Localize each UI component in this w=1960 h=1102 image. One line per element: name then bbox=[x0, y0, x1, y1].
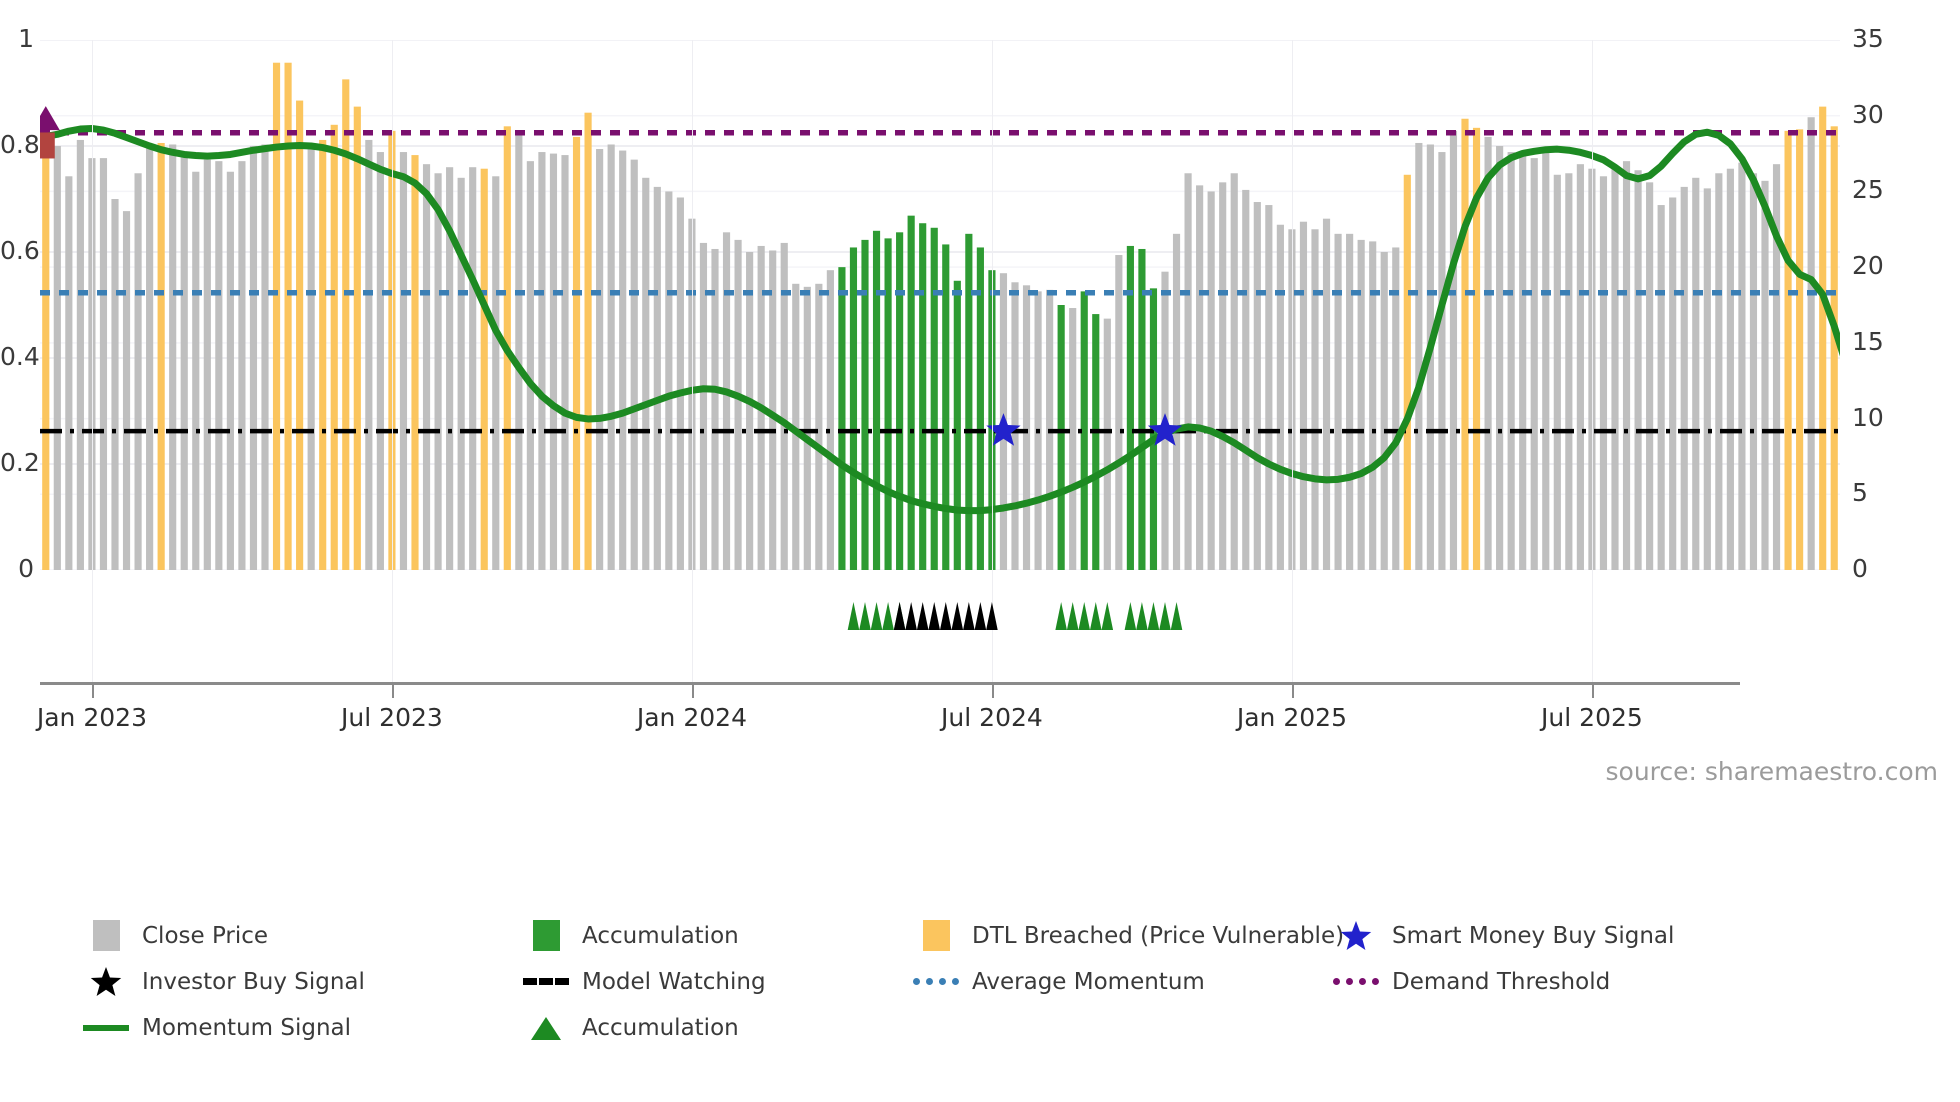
price-bar bbox=[261, 144, 268, 570]
price-bar bbox=[1208, 191, 1215, 570]
price-bar bbox=[1531, 158, 1538, 570]
price-bar bbox=[746, 252, 753, 570]
vertical-gridline bbox=[992, 40, 993, 682]
y-axis-right-tick: 30 bbox=[1852, 100, 1912, 129]
y-axis-right-tick: 35 bbox=[1852, 24, 1912, 53]
price-bar bbox=[1231, 173, 1238, 570]
price-bar bbox=[215, 161, 222, 570]
x-axis-line bbox=[40, 682, 1740, 685]
price-bar bbox=[158, 143, 165, 570]
price-bar bbox=[1727, 169, 1734, 570]
price-bar bbox=[1219, 182, 1226, 570]
price-bar bbox=[1058, 305, 1065, 570]
price-bar bbox=[1300, 222, 1307, 570]
accumulation-triangle-icon bbox=[882, 602, 894, 630]
legend-label: Investor Buy Signal bbox=[134, 969, 365, 995]
price-bar bbox=[654, 187, 661, 570]
price-bar bbox=[677, 197, 684, 570]
plot-area bbox=[40, 40, 1840, 570]
price-bar bbox=[250, 146, 257, 570]
price-bar bbox=[1115, 255, 1122, 570]
price-bar bbox=[1323, 219, 1330, 570]
legend-row: Investor Buy SignalModel WatchingAverage… bbox=[78, 966, 1918, 997]
legend-item[interactable]: DTL Breached (Price Vulnerable) bbox=[908, 920, 1344, 951]
legend-item[interactable]: Model Watching bbox=[518, 966, 766, 997]
y-axis-left-tick: 0 bbox=[0, 554, 34, 583]
price-bar bbox=[169, 144, 176, 570]
price-bar bbox=[492, 176, 499, 570]
price-bar bbox=[1104, 319, 1111, 570]
accumulation-triangle-icon bbox=[871, 602, 883, 630]
vertical-gridline bbox=[1592, 40, 1593, 682]
accumulation-marker-band bbox=[40, 596, 1840, 636]
vertical-gridline bbox=[392, 40, 393, 682]
dotted-line-icon bbox=[1328, 966, 1384, 997]
price-bar bbox=[1611, 167, 1618, 570]
swatch bbox=[83, 1025, 129, 1031]
price-bar bbox=[931, 228, 938, 570]
price-bar bbox=[285, 63, 292, 570]
swatch bbox=[93, 920, 120, 951]
dotted-line-icon bbox=[908, 966, 964, 997]
price-bar bbox=[1023, 285, 1030, 570]
price-bar bbox=[469, 167, 476, 570]
price-bar bbox=[146, 144, 153, 570]
chart-canvas bbox=[40, 40, 1840, 570]
price-bar bbox=[711, 249, 718, 570]
price-bar bbox=[1646, 182, 1653, 570]
price-bar bbox=[965, 234, 972, 570]
price-bar bbox=[1554, 175, 1561, 570]
legend-item[interactable]: Investor Buy Signal bbox=[78, 966, 365, 997]
price-bar bbox=[619, 151, 626, 570]
price-bar bbox=[1173, 234, 1180, 570]
price-bar bbox=[365, 140, 372, 570]
x-axis-label: Jan 2023 bbox=[37, 703, 147, 732]
price-bar bbox=[1185, 173, 1192, 570]
investor-buy-triangle-icon bbox=[963, 602, 975, 630]
price-bar bbox=[1565, 173, 1572, 570]
price-bar bbox=[1092, 314, 1099, 570]
price-bar bbox=[642, 178, 649, 570]
price-bar bbox=[423, 164, 430, 570]
price-bar bbox=[561, 155, 568, 570]
price-bar bbox=[1715, 173, 1722, 570]
x-axis-tick bbox=[1292, 684, 1294, 698]
price-bar bbox=[481, 169, 488, 570]
price-bar bbox=[354, 107, 361, 570]
price-bar bbox=[1519, 152, 1526, 570]
price-bar bbox=[1635, 170, 1642, 570]
price-bar bbox=[100, 158, 107, 570]
price-bar bbox=[861, 240, 868, 570]
x-axis-label: Jan 2025 bbox=[1237, 703, 1347, 732]
price-bar bbox=[1381, 252, 1388, 570]
legend-label: Accumulation bbox=[574, 923, 739, 949]
chart-page: 00.20.40.60.81 05101520253035 Jan 2023Ju… bbox=[0, 0, 1960, 1102]
square-swatch-icon bbox=[908, 920, 964, 951]
price-bar bbox=[273, 63, 280, 570]
price-bar bbox=[296, 101, 303, 570]
legend-label: Smart Money Buy Signal bbox=[1384, 923, 1674, 949]
y-axis-left-tick: 0.2 bbox=[0, 448, 34, 477]
price-bar bbox=[331, 125, 338, 570]
price-bar bbox=[515, 135, 522, 570]
accumulation-triangle-icon bbox=[859, 602, 871, 630]
price-bar bbox=[1311, 229, 1318, 570]
price-bar bbox=[1438, 152, 1445, 570]
x-axis-tick bbox=[92, 684, 94, 698]
accumulation-triangle-icon bbox=[1090, 602, 1102, 630]
price-bar bbox=[804, 287, 811, 570]
swatch bbox=[1333, 978, 1379, 985]
price-bar bbox=[400, 152, 407, 570]
price-bar bbox=[1138, 249, 1145, 570]
price-bar bbox=[919, 223, 926, 570]
price-bar bbox=[827, 270, 834, 570]
price-bar bbox=[1265, 205, 1272, 570]
legend-label: Model Watching bbox=[574, 969, 766, 995]
price-bar bbox=[838, 267, 845, 570]
price-bar bbox=[1450, 131, 1457, 570]
swatch bbox=[523, 978, 569, 985]
square-swatch-icon bbox=[518, 920, 574, 951]
swatch bbox=[89, 965, 123, 999]
price-bar bbox=[1069, 308, 1076, 570]
x-axis-tick bbox=[392, 684, 394, 698]
price-bar bbox=[815, 284, 822, 570]
legend-item[interactable]: Momentum Signal bbox=[78, 1012, 351, 1043]
vertical-gridline bbox=[692, 40, 693, 682]
price-bar bbox=[723, 232, 730, 570]
investor-buy-triangle-icon bbox=[928, 602, 940, 630]
accumulation-triangle-icon bbox=[1078, 602, 1090, 630]
price-bar bbox=[873, 231, 880, 570]
price-bar bbox=[1277, 225, 1284, 570]
price-bar bbox=[585, 113, 592, 570]
chart-legend: Close PriceAccumulationDTL Breached (Pri… bbox=[78, 920, 1918, 1058]
price-bar bbox=[596, 149, 603, 570]
accumulation-triangle-icon bbox=[1125, 602, 1137, 630]
y-axis-right-tick: 25 bbox=[1852, 175, 1912, 204]
price-bar bbox=[1692, 178, 1699, 570]
investor-buy-triangle-icon bbox=[952, 602, 964, 630]
price-bar bbox=[435, 173, 442, 570]
investor-buy-triangle-icon bbox=[975, 602, 987, 630]
y-axis-right-tick: 20 bbox=[1852, 251, 1912, 280]
price-bar bbox=[238, 161, 245, 570]
y-axis-right-tick: 15 bbox=[1852, 327, 1912, 356]
vertical-gridline bbox=[1292, 40, 1293, 682]
accumulation-triangle-icon bbox=[1102, 602, 1114, 630]
price-bar bbox=[850, 247, 857, 570]
legend-item[interactable]: Accumulation bbox=[518, 1012, 739, 1043]
legend-label: Close Price bbox=[134, 923, 268, 949]
price-bar bbox=[227, 172, 234, 570]
accumulation-triangle-icon bbox=[848, 602, 860, 630]
price-bar bbox=[204, 160, 211, 570]
star-marker-icon bbox=[78, 966, 134, 997]
y-axis-left-tick: 0.4 bbox=[0, 342, 34, 371]
x-axis-tick bbox=[1592, 684, 1594, 698]
swatch bbox=[913, 978, 959, 985]
price-bar bbox=[608, 144, 615, 570]
investor-buy-triangle-icon bbox=[894, 602, 906, 630]
y-axis-left-tick: 1 bbox=[0, 24, 34, 53]
x-axis-label: Jul 2024 bbox=[941, 703, 1043, 732]
legend-label: Momentum Signal bbox=[134, 1015, 351, 1041]
price-bar bbox=[111, 199, 118, 570]
price-bar bbox=[1669, 197, 1676, 570]
price-bar bbox=[319, 140, 326, 570]
price-bar bbox=[54, 146, 61, 570]
price-bar bbox=[377, 152, 384, 570]
swatch bbox=[533, 920, 560, 951]
price-bar bbox=[942, 244, 949, 570]
y-axis-right-tick: 10 bbox=[1852, 403, 1912, 432]
price-bar bbox=[954, 281, 961, 570]
price-marker-square-icon bbox=[40, 132, 55, 158]
price-bar bbox=[1242, 190, 1249, 570]
price-bar bbox=[1196, 185, 1203, 570]
dashed-line-icon bbox=[518, 966, 574, 997]
accumulation-triangle-icon bbox=[1159, 602, 1171, 630]
price-bar bbox=[65, 176, 72, 570]
investor-buy-triangle-icon bbox=[940, 602, 952, 630]
price-bar bbox=[1542, 148, 1549, 570]
price-bar bbox=[135, 173, 142, 570]
price-bar bbox=[665, 191, 672, 570]
price-bar bbox=[1796, 129, 1803, 570]
legend-item[interactable]: Average Momentum bbox=[908, 966, 1205, 997]
price-bar bbox=[123, 211, 130, 570]
legend-row: Close PriceAccumulationDTL Breached (Pri… bbox=[78, 920, 1918, 951]
price-bar bbox=[1358, 240, 1365, 570]
x-axis-tick bbox=[992, 684, 994, 698]
vertical-gridline bbox=[92, 40, 93, 682]
price-bar bbox=[1508, 152, 1515, 570]
price-bar bbox=[550, 154, 557, 570]
legend-label: Demand Threshold bbox=[1384, 969, 1610, 995]
legend-item[interactable]: Accumulation bbox=[518, 920, 739, 951]
legend-label: Accumulation bbox=[574, 1015, 739, 1041]
y-axis-left-tick: 0.8 bbox=[0, 130, 34, 159]
triangle-marker-icon bbox=[518, 1012, 574, 1043]
accumulation-triangle-icon bbox=[1067, 602, 1079, 630]
swatch bbox=[1339, 919, 1373, 953]
price-bar bbox=[411, 155, 418, 570]
price-bar bbox=[77, 140, 84, 570]
price-bar bbox=[1785, 131, 1792, 570]
price-bar bbox=[908, 216, 915, 570]
legend-label: DTL Breached (Price Vulnerable) bbox=[964, 923, 1344, 949]
legend-row: Momentum SignalAccumulation bbox=[78, 1012, 1918, 1043]
price-bar bbox=[735, 240, 742, 570]
price-bar bbox=[896, 232, 903, 570]
x-axis-label: Jul 2023 bbox=[341, 703, 443, 732]
swatch bbox=[529, 1013, 563, 1043]
investor-buy-triangle-icon bbox=[917, 602, 929, 630]
price-bar bbox=[181, 155, 188, 570]
price-bar bbox=[573, 137, 580, 570]
price-bar bbox=[308, 146, 315, 570]
accumulation-triangle-icon bbox=[1148, 602, 1160, 630]
x-axis-tick bbox=[692, 684, 694, 698]
swatch bbox=[923, 920, 950, 951]
x-axis-label: Jul 2025 bbox=[1541, 703, 1643, 732]
accumulation-triangle-icon bbox=[1171, 602, 1183, 630]
price-bar bbox=[1461, 119, 1468, 570]
price-bar bbox=[1831, 126, 1838, 570]
legend-label: Average Momentum bbox=[964, 969, 1205, 995]
price-bar bbox=[1819, 107, 1826, 570]
legend-item[interactable]: Smart Money Buy Signal bbox=[1328, 920, 1674, 951]
price-bar bbox=[1485, 137, 1492, 570]
price-bar bbox=[1623, 161, 1630, 570]
price-bar bbox=[631, 160, 638, 570]
price-bar bbox=[1346, 234, 1353, 570]
price-bar bbox=[458, 178, 465, 570]
star-marker-icon bbox=[1328, 920, 1384, 951]
legend-item[interactable]: Close Price bbox=[78, 920, 268, 951]
price-bar bbox=[192, 172, 199, 570]
price-bar bbox=[1577, 164, 1584, 570]
price-bar bbox=[1658, 205, 1665, 570]
price-bar bbox=[1335, 234, 1342, 570]
investor-buy-triangle-icon bbox=[986, 602, 998, 630]
price-bar bbox=[1600, 176, 1607, 570]
price-bar bbox=[527, 161, 534, 570]
accumulation-triangle-icon bbox=[1136, 602, 1148, 630]
demand-marker-triangle-icon bbox=[40, 106, 60, 130]
investor-buy-triangle-icon bbox=[905, 602, 917, 630]
x-axis-label: Jan 2024 bbox=[637, 703, 747, 732]
price-bar bbox=[1254, 202, 1261, 570]
price-bar bbox=[1681, 187, 1688, 570]
legend-item[interactable]: Demand Threshold bbox=[1328, 966, 1610, 997]
price-bar bbox=[1738, 163, 1745, 570]
y-axis-right-tick: 0 bbox=[1852, 554, 1912, 583]
y-axis-left-tick: 0.6 bbox=[0, 236, 34, 265]
price-bar bbox=[1496, 146, 1503, 570]
price-bar bbox=[1761, 181, 1768, 570]
price-bar bbox=[1750, 173, 1757, 570]
source-attribution: source: sharemaestro.com bbox=[1606, 757, 1939, 786]
price-bar bbox=[1404, 175, 1411, 570]
price-bar bbox=[1392, 247, 1399, 570]
price-bar bbox=[1704, 188, 1711, 570]
price-bar bbox=[1808, 117, 1815, 570]
price-bar bbox=[977, 247, 984, 570]
price-bar bbox=[538, 152, 545, 570]
y-axis-right-tick: 5 bbox=[1852, 478, 1912, 507]
price-bar bbox=[885, 238, 892, 570]
price-bar bbox=[42, 137, 49, 570]
solid-line-icon bbox=[78, 1012, 134, 1043]
square-swatch-icon bbox=[78, 920, 134, 951]
accumulation-triangle-icon bbox=[1055, 602, 1067, 630]
price-bar bbox=[1415, 143, 1422, 570]
